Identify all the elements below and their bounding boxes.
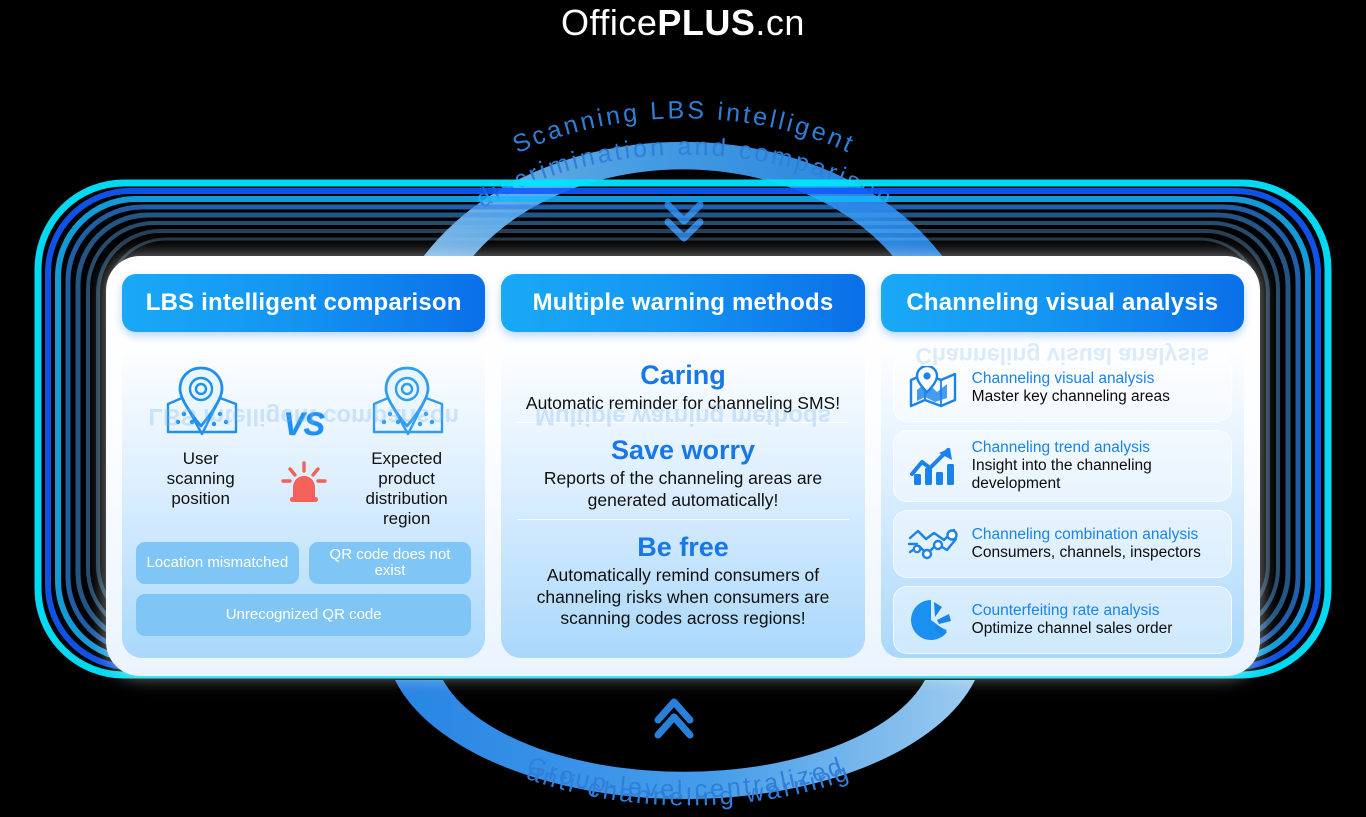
caption-line: region [345, 509, 469, 529]
panel-2-title: Multiple warning methods [533, 289, 834, 317]
warning-method-list: Caring Automatic reminder for channeling… [501, 342, 864, 647]
line-combination-chart-icon [904, 524, 962, 564]
warning-method-desc: Automatic reminder for channeling SMS! [517, 393, 848, 414]
panel-2-header[interactable]: Multiple warning methods [501, 274, 864, 332]
map-region-icon [904, 366, 962, 410]
slide-canvas: OfficePLUS.cn Scanning LBS intelligen [0, 0, 1366, 817]
analysis-item-combination[interactable]: Channeling combination analysis Consumer… [893, 510, 1232, 578]
panel-lbs-intelligent-comparison: LBS intelligent comparison LBS intellige… [122, 274, 485, 658]
siren-alarm-icon [281, 461, 327, 505]
analysis-item-text: Channeling combination analysis Consumer… [972, 526, 1221, 562]
map-pin-location-icon [364, 364, 450, 440]
tag-row-bottom: Unrecognized QR code [136, 594, 471, 636]
caption-line: Expected [345, 449, 469, 469]
analysis-item-title: Channeling trend analysis [972, 439, 1221, 457]
warning-method-title: Be free [517, 532, 848, 563]
analysis-item-counterfeiting[interactable]: Counterfeiting rate analysis Optimize ch… [893, 586, 1232, 654]
panel-3-body: Channeling visual analysis [881, 342, 1244, 658]
tag-unrecognized-qr-code[interactable]: Unrecognized QR code [136, 594, 471, 636]
tag-qr-code-does-not-exist[interactable]: QR code does not exist [309, 542, 472, 584]
expected-region-caption: Expected product distribution region [345, 449, 469, 529]
expected-region-block: Expected product distribution region [345, 364, 469, 529]
analysis-item-desc: Consumers, channels, inspectors [972, 544, 1221, 562]
panel-multiple-warning-methods: Multiple warning methods Multiple warnin… [501, 274, 864, 658]
panel-channeling-visual-analysis: Channeling visual analysis Channeling vi… [881, 274, 1244, 658]
panel-3-header[interactable]: Channeling visual analysis [881, 274, 1244, 332]
warning-method-item[interactable]: Be free Automatically remind consumers o… [517, 519, 848, 637]
analysis-item-title: Channeling visual analysis [972, 370, 1221, 388]
panel-2-body: Multiple warning methods Caring Automati… [501, 342, 864, 658]
panel-1-body: LBS intelligent comparison [122, 342, 485, 658]
warning-method-title: Save worry [517, 435, 848, 466]
analysis-item-trend[interactable]: Channeling trend analysis Insight into t… [893, 430, 1232, 502]
warning-method-item[interactable]: Caring Automatic reminder for channeling… [517, 356, 848, 422]
panel-1-header[interactable]: LBS intelligent comparison [122, 274, 485, 332]
tag-location-mismatched[interactable]: Location mismatched [136, 542, 299, 584]
analysis-item-title: Counterfeiting rate analysis [972, 602, 1221, 620]
caption-line: User [139, 449, 263, 469]
trend-up-chart-icon [904, 444, 962, 488]
analysis-item-title: Channeling combination analysis [972, 526, 1221, 544]
map-pin-location-icon [158, 364, 244, 440]
analysis-item-visual[interactable]: Channeling visual analysis Master key ch… [893, 354, 1232, 422]
main-card-container: LBS intelligent comparison LBS intellige… [106, 256, 1260, 676]
chevron-double-up-icon [658, 702, 690, 735]
caption-line: scanning [139, 469, 263, 489]
analysis-item-desc: Insight into the channeling development [972, 457, 1221, 493]
caption-line: product [345, 469, 469, 489]
vs-block: VS [267, 364, 341, 505]
analysis-item-desc: Optimize channel sales order [972, 620, 1221, 638]
analysis-list: Channeling visual analysis Master key ch… [881, 342, 1244, 658]
panel-1-title: LBS intelligent comparison [146, 289, 462, 317]
analysis-item-text: Counterfeiting rate analysis Optimize ch… [972, 602, 1221, 638]
warning-method-title: Caring [517, 360, 848, 391]
analysis-item-text: Channeling trend analysis Insight into t… [972, 439, 1221, 493]
analysis-item-text: Channeling visual analysis Master key ch… [972, 370, 1221, 406]
user-position-caption: User scanning position [139, 449, 263, 509]
panel-3-title: Channeling visual analysis [906, 289, 1218, 317]
pie-chart-icon [904, 597, 962, 643]
user-position-block: User scanning position [139, 364, 263, 509]
caption-line: distribution [345, 489, 469, 509]
comparison-row: User scanning position VS [122, 342, 485, 529]
caption-line: position [139, 489, 263, 509]
warning-method-item[interactable]: Save worry Reports of the channeling are… [517, 422, 848, 519]
vs-label: VS [283, 406, 324, 443]
warning-method-desc: Reports of the channeling areas are gene… [517, 468, 848, 511]
warning-method-desc: Automatically remind consumers of channe… [517, 565, 848, 629]
tag-row-top: Location mismatched QR code does not exi… [136, 542, 471, 584]
warning-tag-group: Location mismatched QR code does not exi… [136, 542, 471, 646]
analysis-item-desc: Master key channeling areas [972, 388, 1221, 406]
